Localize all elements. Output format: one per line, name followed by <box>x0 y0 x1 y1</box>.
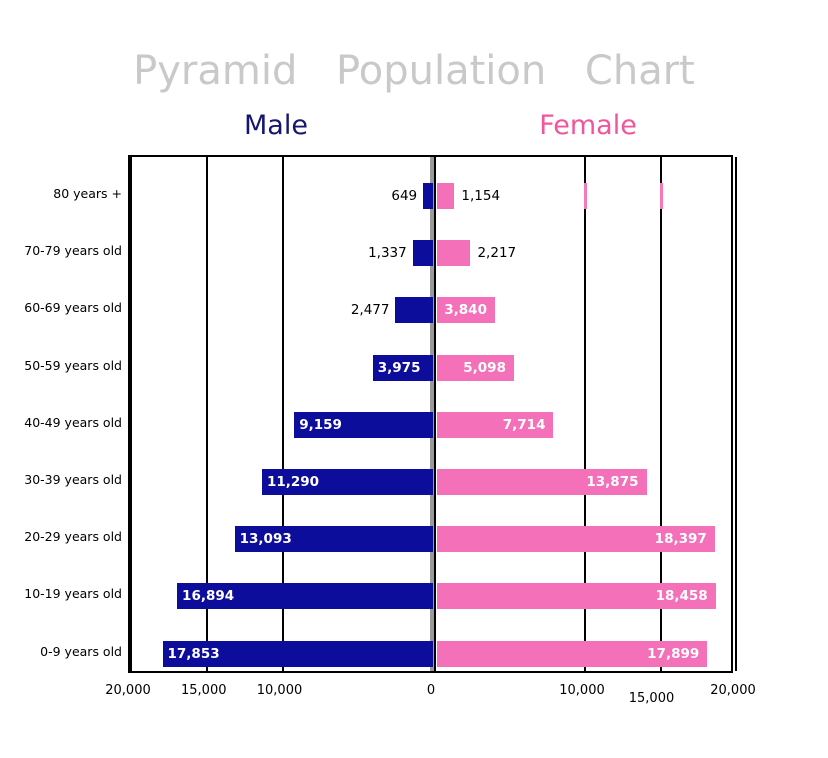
bar-value-female: 2,217 <box>477 240 516 266</box>
category-label: 60-69 years old <box>12 300 122 316</box>
bar-value-male: 9,159 <box>299 412 342 438</box>
bar-row: 9,1597,714 <box>130 412 731 438</box>
bar-female <box>437 183 454 209</box>
category-label: 50-59 years old <box>12 358 122 374</box>
x-tick-label: 10,000 <box>240 683 320 698</box>
bar-row: 16,89418,458 <box>130 583 731 609</box>
bar-value-male: 2,477 <box>329 297 389 323</box>
bar-value-female: 3,840 <box>437 297 487 323</box>
bar-value-male: 11,290 <box>267 469 319 495</box>
category-axis: 80 years +70-79 years old60-69 years old… <box>8 155 122 673</box>
x-tick-label: 20,000 <box>693 683 773 698</box>
category-label: 0-9 years old <box>12 644 122 660</box>
x-tick-label: 10,000 <box>542 683 622 698</box>
x-tick-label: 20,000 <box>88 683 168 698</box>
category-label: 80 years + <box>12 186 122 202</box>
category-label: 20-29 years old <box>12 529 122 545</box>
bar-value-female: 17,899 <box>437 641 699 667</box>
legend-label-male: Male <box>196 110 356 141</box>
bar-value-male: 13,093 <box>240 526 292 552</box>
category-label: 30-39 years old <box>12 472 122 488</box>
category-label: 70-79 years old <box>12 243 122 259</box>
category-label: 40-49 years old <box>12 415 122 431</box>
bar-male <box>423 183 433 209</box>
bar-value-male: 17,853 <box>168 641 220 667</box>
x-tick-label: 15,000 <box>612 691 692 706</box>
category-label: 10-19 years old <box>12 586 122 602</box>
bar-male <box>395 297 433 323</box>
bar-value-female: 5,098 <box>437 355 506 381</box>
legend-label-female: Female <box>508 110 668 141</box>
bar-value-male: 16,894 <box>182 583 234 609</box>
bar-row: 13,09318,397 <box>130 526 731 552</box>
bar-male <box>413 240 433 266</box>
x-tick-label: 15,000 <box>164 683 244 698</box>
bar-row: 11,29013,875 <box>130 469 731 495</box>
bar-value-male: 649 <box>357 183 417 209</box>
bar-value-female: 18,397 <box>437 526 707 552</box>
bar-value-male: 1,337 <box>347 240 407 266</box>
bar-female <box>437 240 470 266</box>
bar-value-female: 13,875 <box>437 469 639 495</box>
bar-row: 1,3372,217 <box>130 240 731 266</box>
bar-value-female: 7,714 <box>437 412 545 438</box>
x-tick-label: 0 <box>391 683 471 698</box>
gridline-right-20000 <box>735 157 737 671</box>
chart-title: Pyramid Population Chart <box>0 48 828 94</box>
bar-row: 6491,154 <box>130 183 731 209</box>
plot-area: 6491,1541,3372,2172,4773,8403,9755,0989,… <box>128 155 733 673</box>
bar-row: 17,85317,899 <box>130 641 731 667</box>
bar-value-male: 3,975 <box>378 355 421 381</box>
bar-row: 2,4773,840 <box>130 297 731 323</box>
bar-value-female: 18,458 <box>437 583 708 609</box>
population-pyramid-chart: Pyramid Population Chart Male Female 80 … <box>0 0 828 758</box>
bar-row: 3,9755,098 <box>130 355 731 381</box>
bar-value-female: 1,154 <box>461 183 500 209</box>
